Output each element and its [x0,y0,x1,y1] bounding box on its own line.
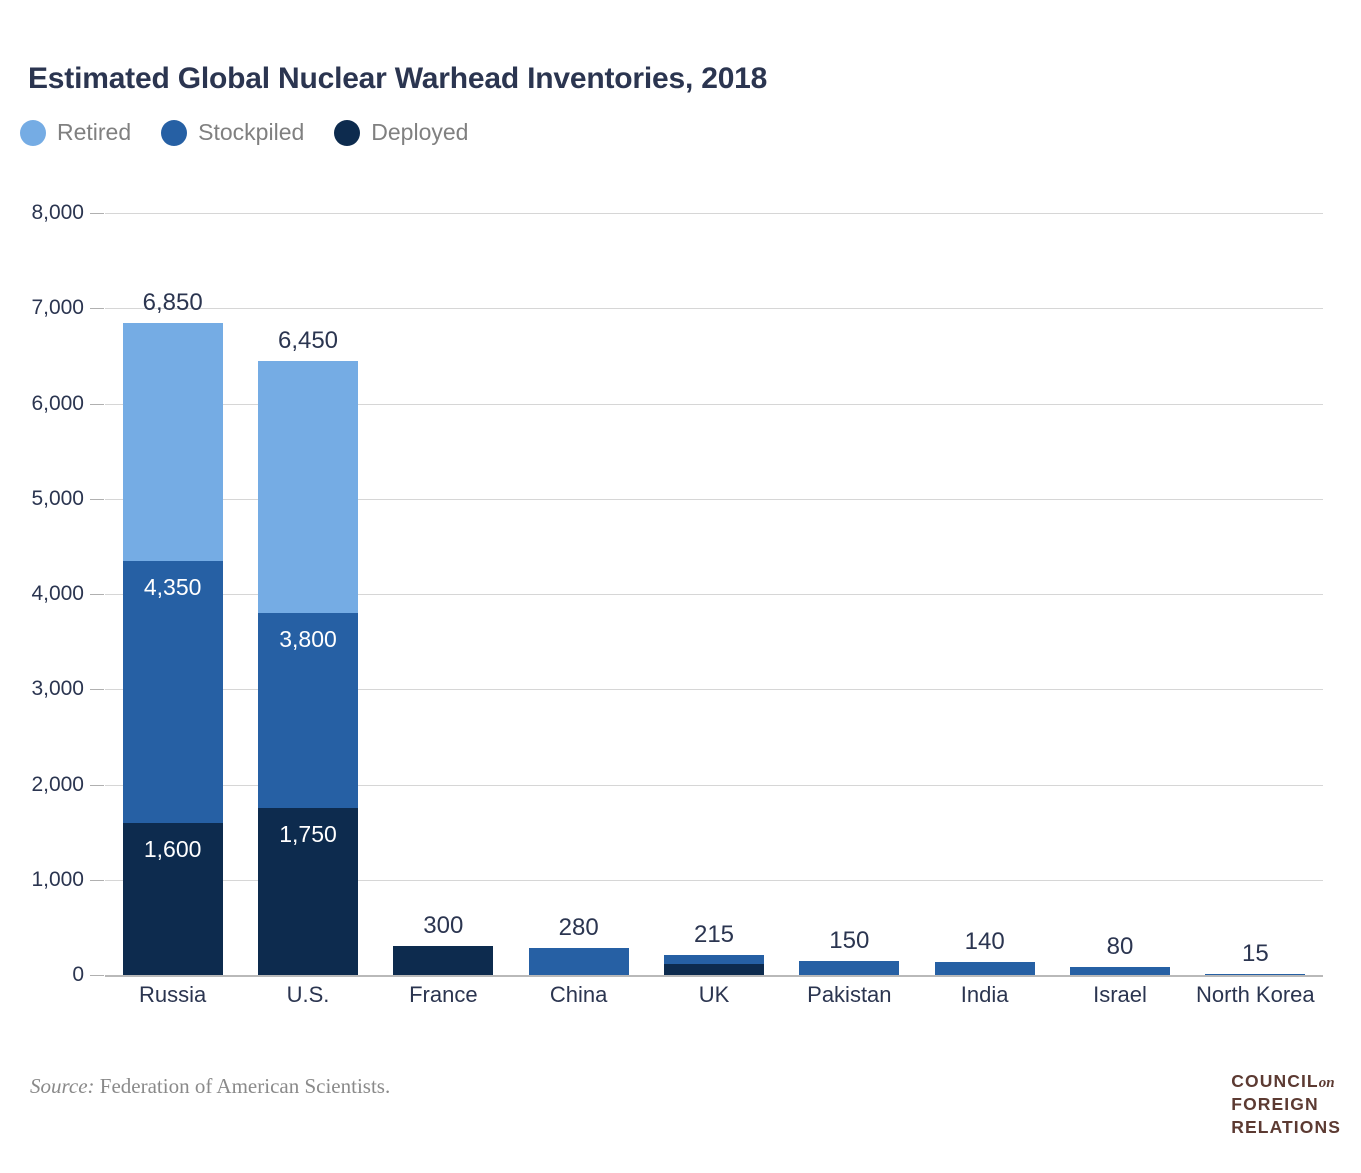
bar-segment-retired[interactable] [123,323,223,561]
cfr-logo-on: on [1319,1075,1335,1091]
source-text: Federation of American Scientists. [100,1074,390,1098]
bar-total-label: 215 [664,921,764,949]
y-axis-tick-label: 8,000 [0,201,84,225]
bar-segment-value-label: 3,800 [258,626,358,653]
x-axis-tick-label: North Korea [1168,982,1343,1008]
bar-total-label: 6,850 [123,289,223,317]
y-axis-tick-mark [90,975,104,976]
y-axis-tick-label: 0 [0,963,84,987]
bar-segment-value-label: 1,600 [123,836,223,863]
y-axis-tick-label: 1,000 [0,868,84,892]
source-prefix: Source: [30,1074,95,1098]
bar-group[interactable]: 140India [935,0,1035,1173]
cfr-logo: COUNCILon FOREIGN RELATIONS [1231,1070,1341,1138]
y-axis-tick-mark [90,499,104,500]
bar-segment-stockpiled[interactable] [664,955,764,964]
bar-total-label: 150 [799,927,899,955]
y-axis-tick-mark [90,594,104,595]
bar-group[interactable]: 215UK [664,0,764,1173]
y-axis-tick-label: 6,000 [0,392,84,416]
bar-segment-stockpiled[interactable] [935,962,1035,975]
bar-group[interactable]: 280China [529,0,629,1173]
bar-total-label: 15 [1205,940,1305,968]
bar-group[interactable]: 15North Korea [1205,0,1305,1173]
y-axis-tick-label: 7,000 [0,296,84,320]
bar-segment-stockpiled[interactable] [529,948,629,975]
cfr-logo-line-2: FOREIGN [1231,1093,1341,1116]
cfr-logo-line-3: RELATIONS [1231,1116,1341,1139]
bar-total-label: 140 [935,928,1035,956]
bar-segment-deployed[interactable] [393,946,493,975]
bar-total-label: 280 [529,914,629,942]
y-axis-tick-label: 3,000 [0,677,84,701]
bar-segment-deployed[interactable] [664,964,764,975]
bar-total-label: 6,450 [258,327,358,355]
cfr-logo-council: COUNCIL [1231,1071,1318,1091]
bar-group[interactable]: 150Pakistan [799,0,899,1173]
y-axis-tick-label: 2,000 [0,773,84,797]
plot-area: 8,0007,0006,0005,0004,0003,0002,0001,000… [0,0,1361,1173]
y-axis-tick-mark [90,880,104,881]
bar-group[interactable]: 1,6004,3506,850Russia [123,0,223,1173]
bar-group[interactable]: 80Israel [1070,0,1170,1173]
y-axis-tick-mark [90,404,104,405]
bar-segment-value-label: 4,350 [123,574,223,601]
bar-segment-stockpiled[interactable] [1070,967,1170,975]
y-axis-tick-mark [90,689,104,690]
y-axis-tick-label: 4,000 [0,582,84,606]
bar-segment-stockpiled[interactable] [799,961,899,975]
y-axis-tick-label: 5,000 [0,487,84,511]
bar-segment-value-label: 1,750 [258,821,358,848]
bar-segment-stockpiled[interactable] [1205,974,1305,975]
bar-group[interactable]: 1,7503,8006,450U.S. [258,0,358,1173]
y-axis-tick-mark [90,785,104,786]
source-note: Source: Federation of American Scientist… [30,1074,390,1099]
bar-group[interactable]: 300France [393,0,493,1173]
bar-total-label: 80 [1070,933,1170,961]
y-axis-tick-mark [90,308,104,309]
y-axis-tick-mark [90,213,104,214]
cfr-logo-line-1: COUNCILon [1231,1070,1341,1093]
bar-segment-retired[interactable] [258,361,358,613]
bar-total-label: 300 [393,912,493,940]
